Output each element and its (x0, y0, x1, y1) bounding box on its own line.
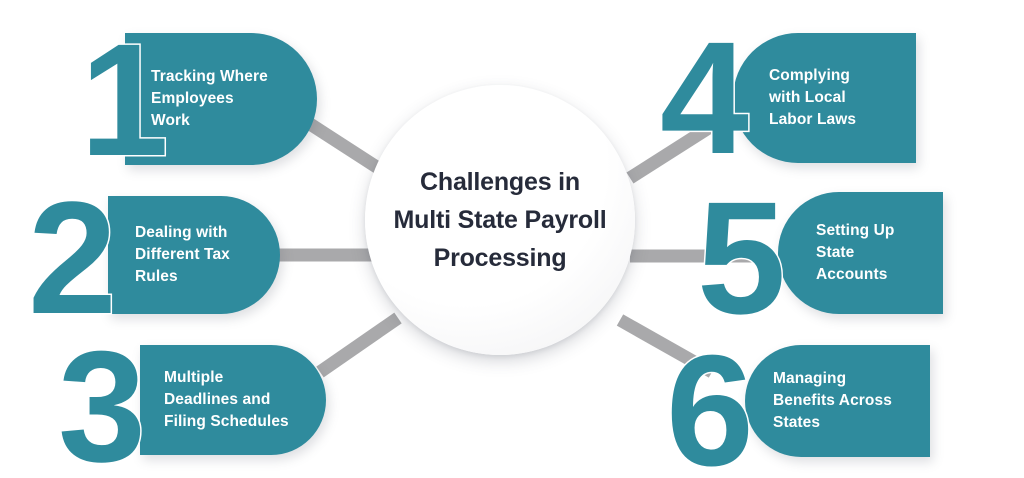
connector-line-3 (320, 318, 398, 372)
connector-line-6 (620, 320, 712, 372)
challenge-label-5: Setting Up State Accounts (778, 220, 895, 286)
challenge-pill-2[interactable]: Dealing with Different Tax Rules (108, 196, 280, 314)
challenge-label-6-line-2: Benefits Across (773, 390, 892, 412)
challenge-label-3: Multiple Deadlines and Filing Schedules (140, 367, 289, 433)
challenge-label-3-line-1: Multiple (164, 367, 289, 389)
challenge-label-6: Managing Benefits Across States (745, 368, 892, 434)
challenge-label-1-line-2: Employees (151, 88, 268, 110)
connector-line-4 (630, 122, 718, 178)
challenge-label-4-line-3: Labor Laws (769, 109, 856, 131)
center-title-line-2: Multi State Payroll (375, 201, 625, 239)
challenge-label-4-line-2: with Local (769, 87, 856, 109)
center-title-line-1: Challenges in (375, 163, 625, 201)
challenge-label-4: Complying with Local Labor Laws (733, 65, 856, 131)
challenge-label-2-line-3: Rules (135, 266, 230, 288)
challenge-label-3-line-3: Filing Schedules (164, 411, 289, 433)
challenge-label-1-line-3: Work (151, 110, 268, 132)
challenge-label-6-line-1: Managing (773, 368, 892, 390)
challenge-label-6-line-3: States (773, 412, 892, 434)
challenge-label-4-line-1: Complying (769, 65, 856, 87)
challenge-pill-1[interactable]: Tracking Where Employees Work (125, 33, 317, 165)
challenge-pill-6[interactable]: Managing Benefits Across States (745, 345, 930, 457)
center-circle: Challenges in Multi State Payroll Proces… (365, 85, 635, 355)
challenge-label-2-line-1: Dealing with (135, 222, 230, 244)
infographic-canvas: Challenges in Multi State Payroll Proces… (0, 0, 1024, 478)
challenge-label-1-line-1: Tracking Where (151, 66, 268, 88)
challenge-pill-3[interactable]: Multiple Deadlines and Filing Schedules (140, 345, 326, 455)
center-title-line-3: Processing (375, 239, 625, 277)
challenge-pill-5[interactable]: Setting Up State Accounts (778, 192, 943, 314)
challenge-label-1: Tracking Where Employees Work (125, 66, 268, 132)
center-title: Challenges in Multi State Payroll Proces… (365, 163, 635, 277)
challenge-label-5-line-2: State (816, 242, 895, 264)
challenge-label-2: Dealing with Different Tax Rules (108, 222, 230, 288)
challenge-label-3-line-2: Deadlines and (164, 389, 289, 411)
challenge-label-5-line-3: Accounts (816, 264, 895, 286)
challenge-label-2-line-2: Different Tax (135, 244, 230, 266)
challenge-pill-4[interactable]: Complying with Local Labor Laws (733, 33, 916, 163)
challenge-label-5-line-1: Setting Up (816, 220, 895, 242)
